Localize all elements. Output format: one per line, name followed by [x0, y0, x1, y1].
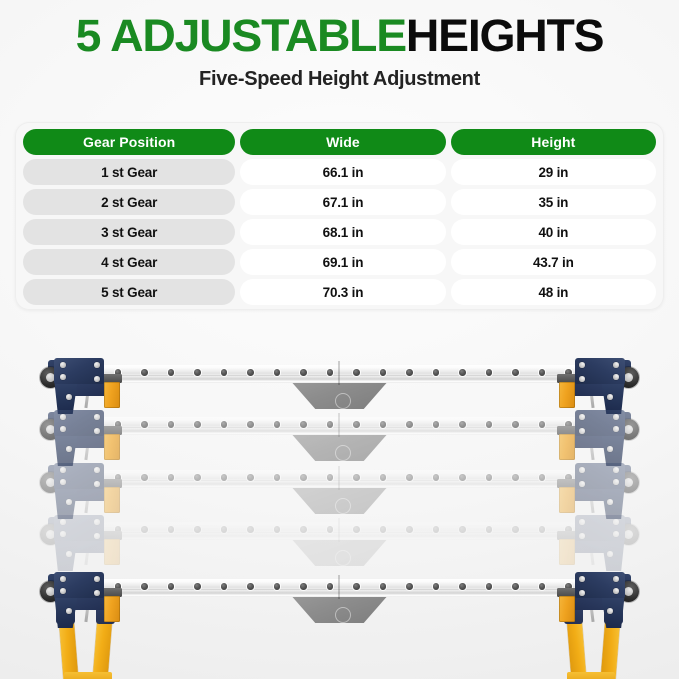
bracket-bolt — [614, 519, 620, 525]
bracket-bolt — [608, 446, 614, 452]
bracket-bolt — [94, 481, 100, 487]
bracket-bolt — [94, 590, 100, 596]
beam-mounting-hole — [539, 474, 546, 481]
clamp-body — [104, 539, 120, 565]
beam-mounting-hole — [459, 369, 466, 376]
bracket-bolt — [60, 374, 66, 380]
bracket-bolt — [66, 499, 72, 505]
orange-clamp-block-left — [104, 531, 120, 565]
product-bar-4 — [0, 513, 679, 573]
beam-mounting-hole — [168, 421, 175, 428]
orange-clamp-block-right — [559, 588, 575, 622]
beam-mounting-hole — [433, 583, 440, 590]
bracket-bolt — [60, 467, 66, 473]
clamp-body — [104, 596, 120, 622]
bracket-bolt — [94, 519, 100, 525]
cell-height: 35 in — [451, 189, 656, 215]
table-row: 2 st Gear 67.1 in 35 in — [23, 189, 656, 215]
cell-gear: 3 st Gear — [23, 219, 235, 245]
beam-mounting-hole — [486, 526, 493, 533]
beam-mounting-hole — [539, 421, 546, 428]
bracket-bolt — [580, 590, 586, 596]
beam-mounting-hole — [194, 369, 201, 376]
center-hinge-plate — [289, 536, 390, 566]
beam-hole-row — [88, 526, 591, 533]
bracket-bolt — [66, 394, 72, 400]
beam-lower-lip — [84, 593, 595, 597]
bracket-bolt — [66, 551, 72, 557]
cell-wide: 66.1 in — [240, 159, 445, 185]
beam-mounting-hole — [194, 421, 201, 428]
beam-lower-lip — [84, 484, 595, 488]
clamp-body — [559, 487, 575, 513]
beam-mounting-hole — [433, 421, 440, 428]
beam-mounting-hole — [380, 369, 387, 376]
beam-mounting-hole — [406, 369, 413, 376]
beam-mounting-hole — [247, 583, 254, 590]
caster-bracket-left — [40, 572, 104, 620]
beam-mounting-hole — [353, 369, 360, 376]
beam-lower-lip — [84, 536, 595, 540]
caster-bracket-right — [575, 358, 639, 406]
leg-cross-brace — [64, 672, 112, 679]
bracket-bolt — [94, 376, 100, 382]
cell-height: 48 in — [451, 279, 656, 305]
bracket-bolt — [580, 533, 586, 539]
orange-clamp-block-right — [559, 426, 575, 460]
caster-bracket-right — [575, 572, 639, 620]
orange-clamp-block-right — [559, 479, 575, 513]
bracket-bolt — [614, 374, 620, 380]
beam-mounting-hole — [141, 369, 148, 376]
beam-mounting-hole — [300, 526, 307, 533]
clamp-body — [559, 434, 575, 460]
bracket-bolt — [580, 362, 586, 368]
beam-mounting-hole — [512, 474, 519, 481]
beam-hole-row — [88, 583, 591, 590]
bracket-bolt — [60, 414, 66, 420]
bracket-bolt — [580, 576, 586, 582]
bracket-bolt — [614, 576, 620, 582]
beam-mounting-hole — [168, 369, 175, 376]
clamp-body — [104, 382, 120, 408]
beam-mounting-hole — [353, 421, 360, 428]
beam-mounting-hole — [406, 583, 413, 590]
beam-mounting-hole — [194, 474, 201, 481]
caster-bracket-left — [40, 410, 104, 458]
bracket-bolt — [60, 426, 66, 432]
bracket-bolt — [580, 414, 586, 420]
bracket-bolt — [94, 576, 100, 582]
bracket-bolt — [614, 426, 620, 432]
beam-lower-lip — [84, 379, 595, 383]
beam-mounting-hole — [141, 421, 148, 428]
clamp-body — [559, 596, 575, 622]
beam-mounting-hole — [327, 526, 334, 533]
beam-mounting-hole — [327, 421, 334, 428]
bracket-bolt — [580, 428, 586, 434]
beam-mounting-hole — [300, 421, 307, 428]
clamp-body — [104, 487, 120, 513]
beam-mounting-hole — [406, 421, 413, 428]
beam-mounting-hole — [459, 421, 466, 428]
beam-mounting-hole — [406, 474, 413, 481]
page-title: 5 ADJUSTABLEHEIGHTS — [0, 12, 679, 59]
bracket-bolt — [66, 608, 72, 614]
bracket-bolt — [60, 588, 66, 594]
bracket-bolt — [614, 414, 620, 420]
beam-mounting-hole — [353, 526, 360, 533]
beam-mounting-hole — [459, 526, 466, 533]
infographic-page: 5 ADJUSTABLEHEIGHTS Five-Speed Height Ad… — [0, 0, 679, 679]
beam-mounting-hole — [433, 369, 440, 376]
beam-mounting-hole — [327, 474, 334, 481]
beam-mounting-hole — [274, 369, 281, 376]
bracket-bolt — [66, 446, 72, 452]
table-row: 4 st Gear 69.1 in 43.7 in — [23, 249, 656, 275]
center-hinge-plate — [289, 431, 390, 461]
bracket-bolt — [60, 479, 66, 485]
cell-wide: 70.3 in — [240, 279, 445, 305]
beam-mounting-hole — [300, 369, 307, 376]
beam-mounting-hole — [274, 526, 281, 533]
spec-table: Gear Position Wide Height 1 st Gear 66.1… — [15, 122, 664, 310]
beam-mounting-hole — [512, 583, 519, 590]
product-bar-5 — [0, 570, 679, 630]
bracket-bolt — [580, 519, 586, 525]
beam-mounting-hole — [274, 583, 281, 590]
beam-mounting-hole — [141, 474, 148, 481]
beam-mounting-hole — [539, 526, 546, 533]
beam-mounting-hole — [380, 474, 387, 481]
bracket-bolt — [60, 531, 66, 537]
center-hinge-plate — [289, 484, 390, 514]
cell-gear: 5 st Gear — [23, 279, 235, 305]
bracket-bolt — [608, 608, 614, 614]
beam-mounting-hole — [459, 583, 466, 590]
caster-bracket-right — [575, 410, 639, 458]
beam-hole-row — [88, 474, 591, 481]
product-illustration — [0, 318, 679, 679]
center-hinge-plate — [289, 379, 390, 409]
cell-height: 29 in — [451, 159, 656, 185]
orange-clamp-block-left — [104, 426, 120, 460]
beam-mounting-hole — [194, 583, 201, 590]
table-row: 5 st Gear 70.3 in 48 in — [23, 279, 656, 305]
beam-mounting-hole — [221, 583, 228, 590]
center-hinge-plate — [289, 593, 390, 623]
leg-cross-brace — [567, 672, 615, 679]
beam-mounting-hole — [380, 526, 387, 533]
beam-mounting-hole — [327, 583, 334, 590]
beam-mounting-hole — [300, 474, 307, 481]
cell-gear: 4 st Gear — [23, 249, 235, 275]
bracket-bolt — [60, 519, 66, 525]
bracket-bolt — [94, 533, 100, 539]
bracket-bolt — [60, 576, 66, 582]
beam-mounting-hole — [300, 583, 307, 590]
beam-lower-lip — [84, 431, 595, 435]
beam-mounting-hole — [221, 474, 228, 481]
beam-mounting-hole — [406, 526, 413, 533]
beam-hole-row — [88, 369, 591, 376]
orange-clamp-block-right — [559, 531, 575, 565]
caster-bracket-left — [40, 358, 104, 406]
cell-height: 40 in — [451, 219, 656, 245]
beam-mounting-hole — [247, 474, 254, 481]
beam-mounting-hole — [512, 421, 519, 428]
beam-mounting-hole — [433, 474, 440, 481]
bracket-bolt — [608, 499, 614, 505]
table-row: 1 st Gear 66.1 in 29 in — [23, 159, 656, 185]
beam-mounting-hole — [194, 526, 201, 533]
bracket-bolt — [608, 394, 614, 400]
beam-mounting-hole — [539, 583, 546, 590]
beam-mounting-hole — [141, 526, 148, 533]
beam-mounting-hole — [353, 583, 360, 590]
product-bar-2 — [0, 408, 679, 468]
cell-gear: 1 st Gear — [23, 159, 235, 185]
cell-wide: 67.1 in — [240, 189, 445, 215]
beam-mounting-hole — [141, 583, 148, 590]
beam-mounting-hole — [512, 526, 519, 533]
beam-mounting-hole — [274, 474, 281, 481]
bracket-bolt — [614, 467, 620, 473]
clamp-body — [104, 434, 120, 460]
beam-mounting-hole — [247, 369, 254, 376]
beam-mounting-hole — [380, 583, 387, 590]
bracket-bolt — [614, 362, 620, 368]
product-bar-1 — [0, 356, 679, 416]
column-header-gear-position: Gear Position — [23, 129, 235, 155]
bracket-bolt — [614, 588, 620, 594]
beam-mounting-hole — [486, 583, 493, 590]
beam-mounting-hole — [221, 526, 228, 533]
cell-gear: 2 st Gear — [23, 189, 235, 215]
beam-mounting-hole — [433, 526, 440, 533]
table-header-row: Gear Position Wide Height — [23, 129, 656, 155]
beam-mounting-hole — [247, 421, 254, 428]
product-bar-3 — [0, 461, 679, 521]
beam-mounting-hole — [459, 474, 466, 481]
beam-mounting-hole — [221, 369, 228, 376]
beam-mounting-hole — [221, 421, 228, 428]
beam-mounting-hole — [168, 583, 175, 590]
table-row: 3 st Gear 68.1 in 40 in — [23, 219, 656, 245]
title-black-part: HEIGHTS — [406, 10, 603, 61]
bracket-bolt — [94, 467, 100, 473]
caster-bracket-right — [575, 515, 639, 563]
bracket-bolt — [608, 551, 614, 557]
beam-mounting-hole — [247, 526, 254, 533]
caster-bracket-right — [575, 463, 639, 511]
clamp-body — [559, 382, 575, 408]
orange-clamp-block-left — [104, 479, 120, 513]
beam-mounting-hole — [274, 421, 281, 428]
bracket-bolt — [94, 362, 100, 368]
bracket-bolt — [580, 376, 586, 382]
clamp-body — [559, 539, 575, 565]
bracket-bolt — [614, 479, 620, 485]
bracket-bolt — [614, 531, 620, 537]
page-subtitle: Five-Speed Height Adjustment — [0, 68, 679, 91]
beam-mounting-hole — [168, 526, 175, 533]
beam-mounting-hole — [486, 369, 493, 376]
bracket-bolt — [580, 467, 586, 473]
column-header-wide: Wide — [240, 129, 445, 155]
beam-mounting-hole — [512, 369, 519, 376]
cell-height: 43.7 in — [451, 249, 656, 275]
beam-mounting-hole — [486, 421, 493, 428]
orange-clamp-block-left — [104, 588, 120, 622]
beam-mounting-hole — [327, 369, 334, 376]
orange-clamp-block-left — [104, 374, 120, 408]
column-header-height: Height — [451, 129, 656, 155]
bracket-bolt — [580, 481, 586, 487]
caster-bracket-left — [40, 515, 104, 563]
beam-mounting-hole — [168, 474, 175, 481]
beam-mounting-hole — [380, 421, 387, 428]
beam-hole-row — [88, 421, 591, 428]
cell-wide: 68.1 in — [240, 219, 445, 245]
caster-bracket-left — [40, 463, 104, 511]
bracket-bolt — [94, 428, 100, 434]
bracket-bolt — [94, 414, 100, 420]
title-green-part: 5 ADJUSTABLE — [76, 10, 406, 61]
beam-mounting-hole — [486, 474, 493, 481]
cell-wide: 69.1 in — [240, 249, 445, 275]
beam-mounting-hole — [353, 474, 360, 481]
orange-clamp-block-right — [559, 374, 575, 408]
beam-mounting-hole — [539, 369, 546, 376]
bracket-bolt — [60, 362, 66, 368]
